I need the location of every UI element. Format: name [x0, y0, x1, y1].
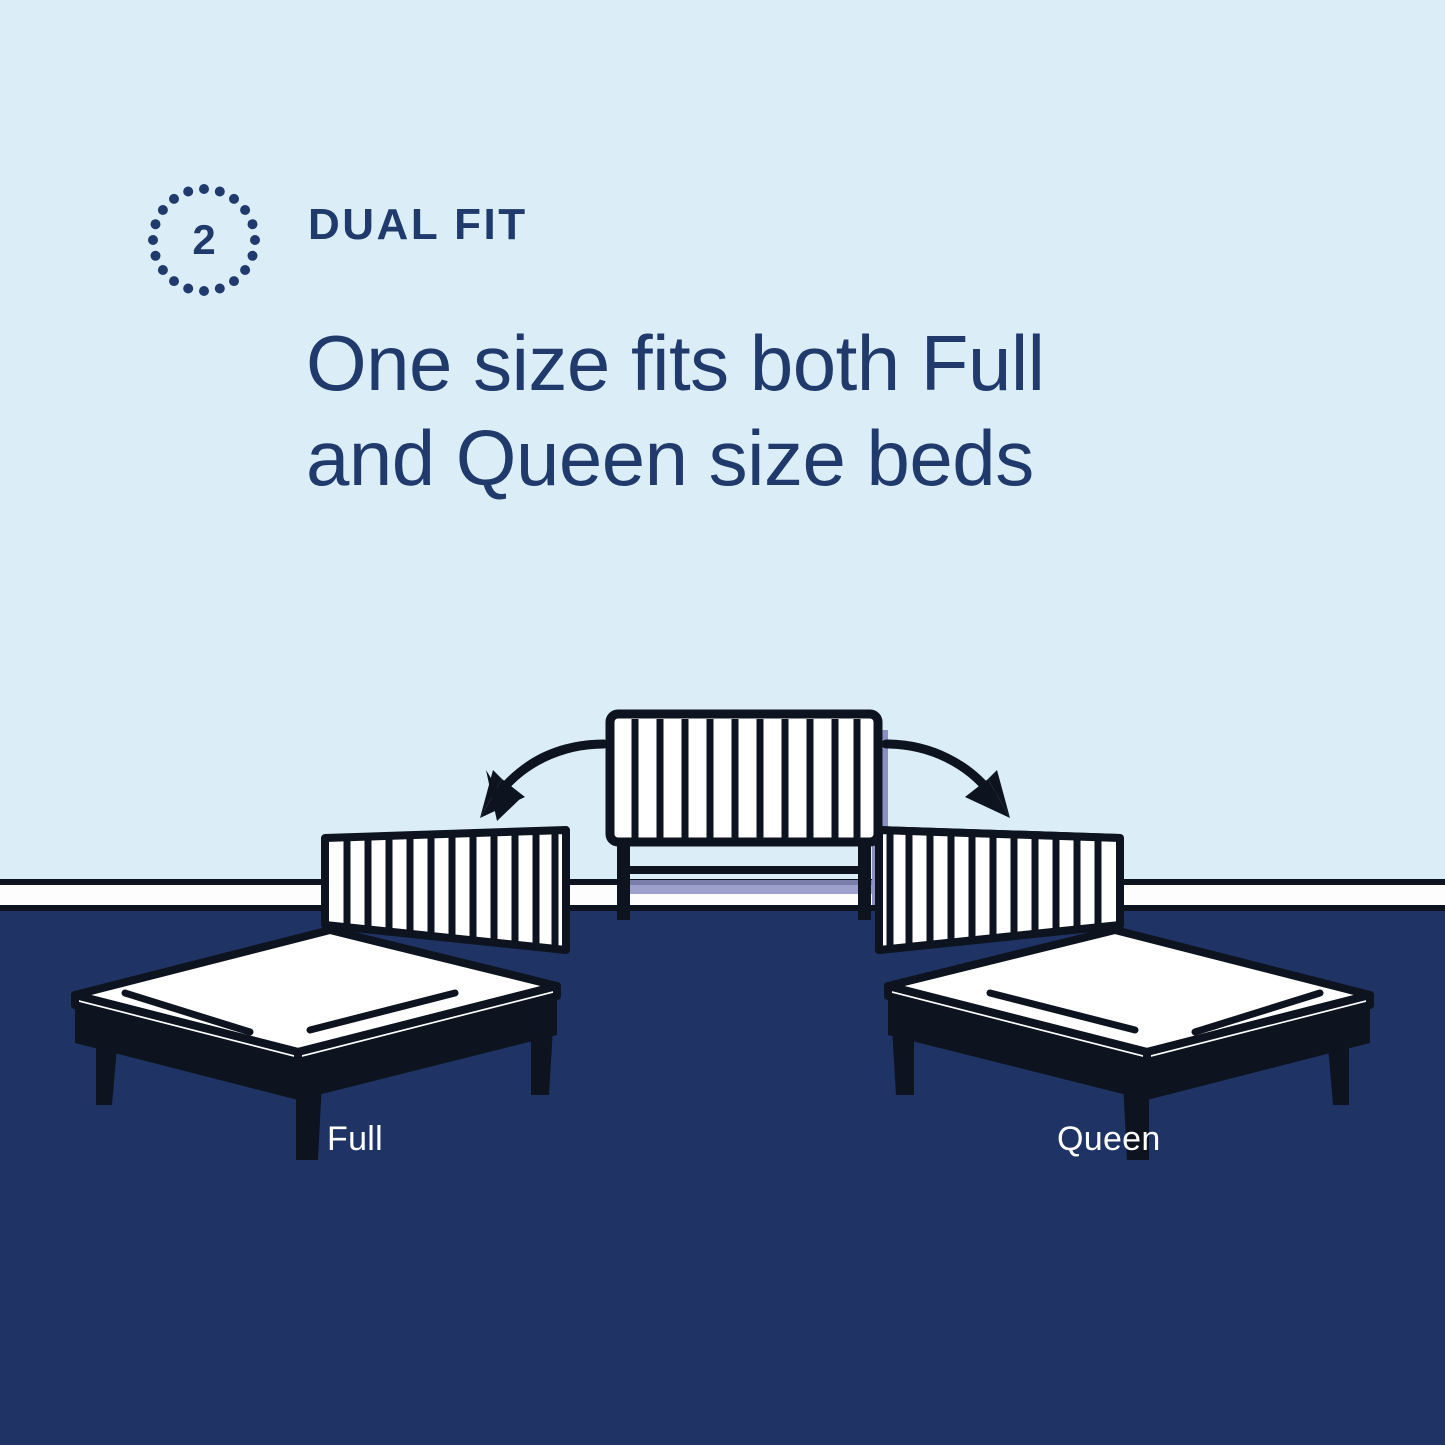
headline-line-1: One size fits both Full	[306, 316, 1266, 411]
dual-fit-infographic: 2 DUAL FIT One size fits both Full and Q…	[0, 0, 1445, 1445]
bed-label-queen: Queen	[1057, 1120, 1161, 1159]
headline-line-2: and Queen size beds	[306, 411, 1266, 506]
bed-label-full: Full	[327, 1120, 383, 1159]
section-eyebrow: DUAL FIT	[308, 203, 528, 247]
step-number: 2	[146, 182, 262, 298]
room-floor	[0, 911, 1445, 1445]
step-badge: 2	[146, 182, 262, 298]
page-title: One size fits both Full and Queen size b…	[306, 316, 1266, 506]
baseboard	[0, 885, 1445, 905]
